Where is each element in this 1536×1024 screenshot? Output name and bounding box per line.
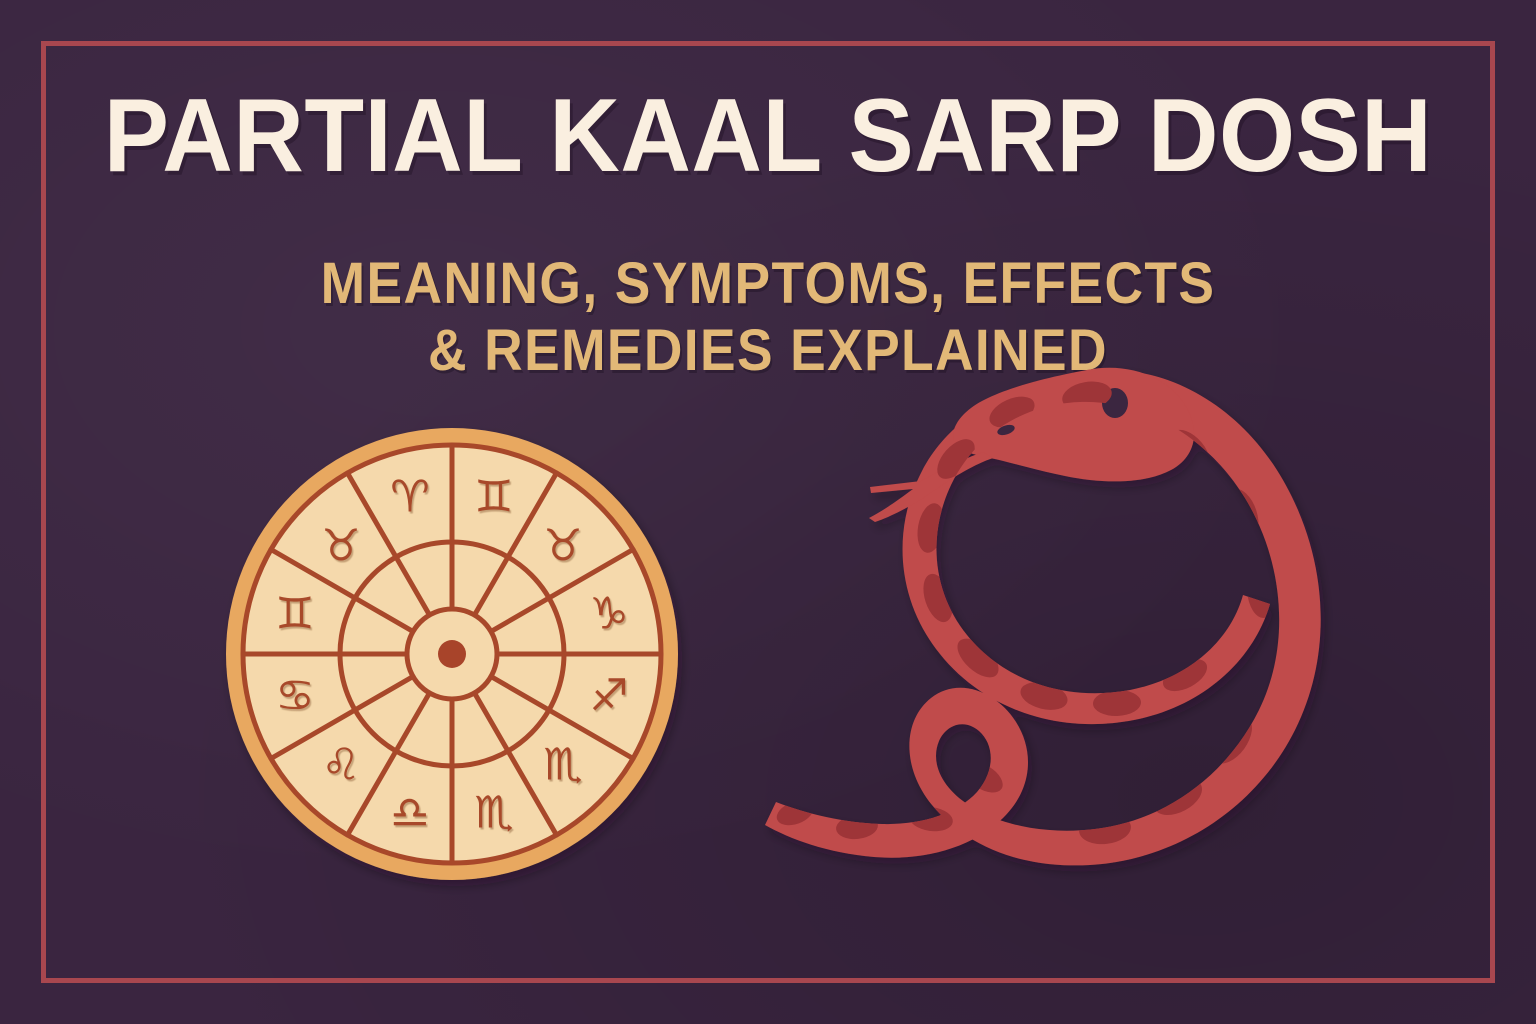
page-title: PARTIAL KAAL SARP DOSH: [46, 84, 1490, 188]
snake-head: [953, 368, 1194, 482]
zodiac-wheel: ♈ ♊ ♉ ♑ ♐ ♏ ♏ ♎ ♌ ♋ ♊ ♉: [222, 424, 682, 884]
wheel-hub-dot: [438, 640, 466, 668]
poster-canvas: PARTIAL KAAL SARP DOSH MEANING, SYMPTOMS…: [0, 0, 1536, 1024]
zodiac-glyph-capricorn-4: ♑: [589, 589, 628, 640]
zodiac-glyph-gemini-2: ♊: [474, 472, 513, 523]
zodiac-glyph-libra-8: ♎: [390, 788, 429, 839]
zodiac-glyph-gemini-11: ♊: [275, 589, 314, 640]
zodiac-glyph-taurus-3: ♉: [543, 521, 582, 572]
zodiac-glyph-aries-1: ♈: [390, 472, 429, 523]
zodiac-glyph-cancer-10: ♋: [275, 671, 314, 722]
coiled-snake: [735, 340, 1335, 925]
zodiac-glyph-scorpio-7: ♏: [474, 788, 513, 839]
zodiac-glyph-scorpio-6: ♏: [543, 740, 582, 791]
zodiac-glyph-leo-9: ♌: [321, 740, 360, 791]
zodiac-glyph-taurus-12: ♉: [321, 521, 360, 572]
zodiac-glyph-sagittarius-5: ♐: [589, 671, 628, 722]
subtitle-line-1: MEANING, SYMPTOMS, EFFECTS: [61, 250, 1474, 317]
